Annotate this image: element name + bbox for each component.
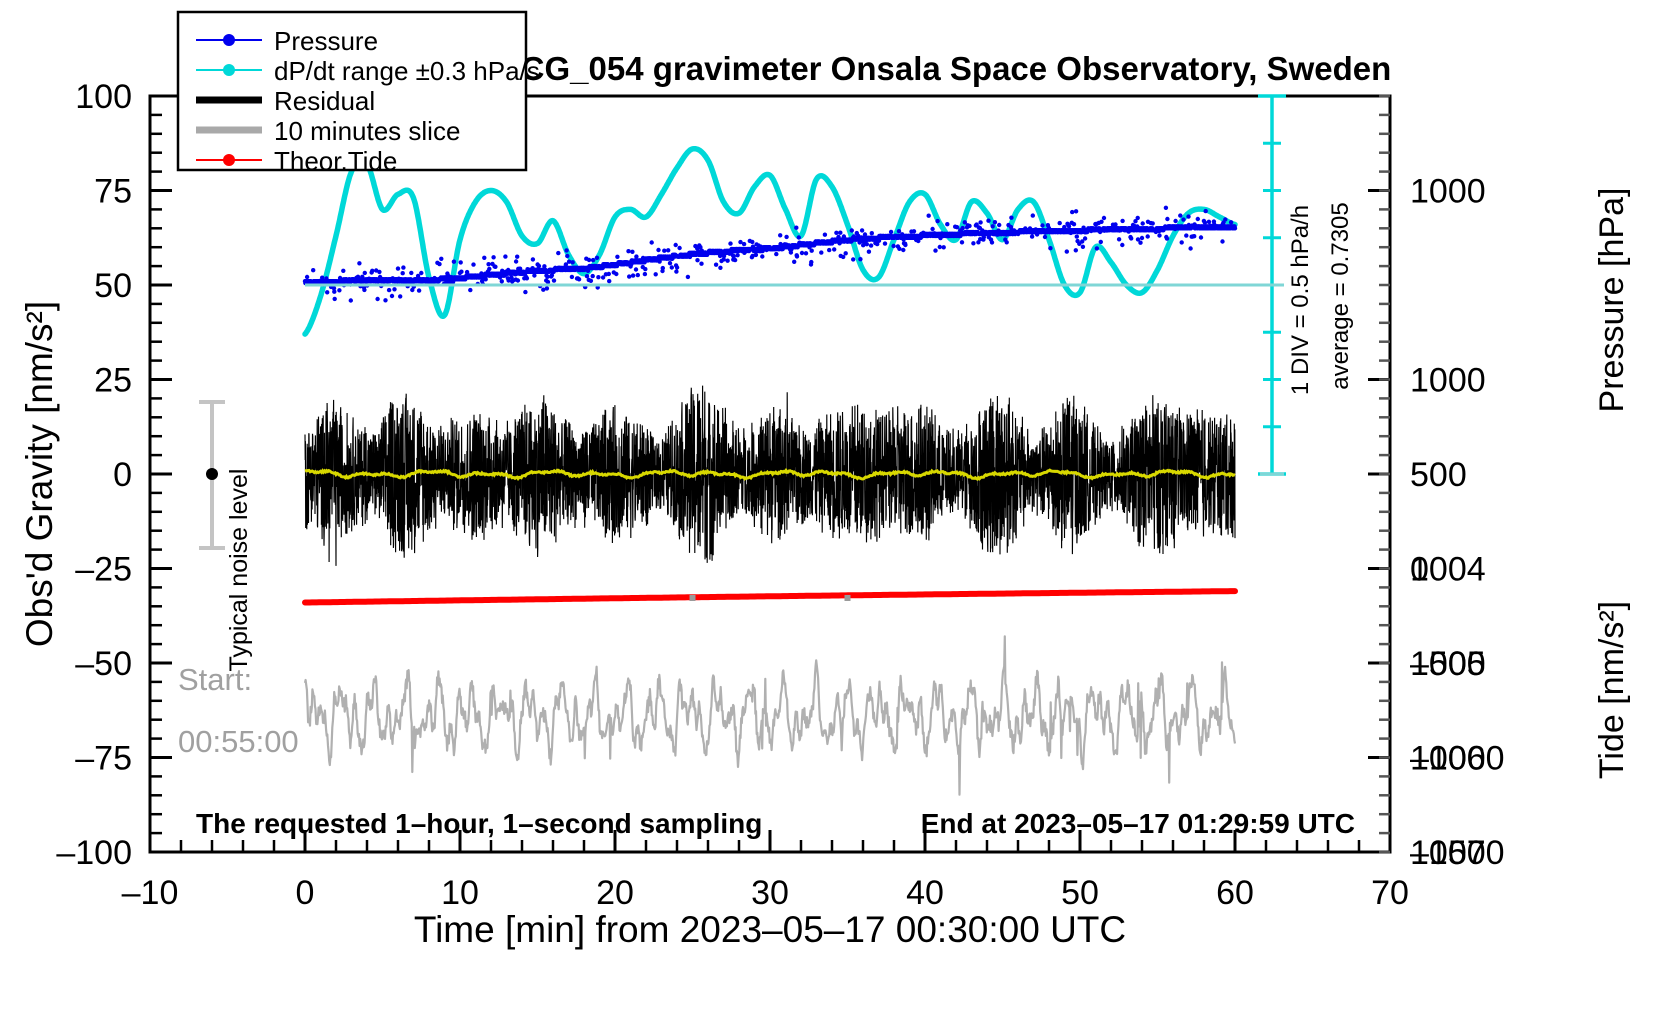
right-pressure-axis-title: Pressure [hPa] (1593, 188, 1631, 413)
noise-level-label: Typical noise level (225, 469, 253, 672)
left-tick-label: –50 (75, 645, 132, 683)
right-tide-tick-label: 500 (1410, 456, 1467, 494)
bottom-tick-label: 0 (296, 874, 315, 912)
legend: PressuredP/dt range ±0.3 hPa/sResidual10… (178, 12, 540, 176)
bottom-axis-title: Time [min] from 2023–05–17 00:30:00 UTC (414, 909, 1126, 950)
page-title: SCG_054 gravimeter Onsala Space Observat… (499, 50, 1392, 87)
legend-label: dP/dt range ±0.3 hPa/s (274, 56, 540, 86)
right-tide-tick-label: 1000 (1410, 362, 1486, 400)
bottom-tick-label: 50 (1061, 874, 1099, 912)
bottom-tick-label: 10 (441, 874, 479, 912)
div-note: 1 DIV = 0.5 hPa/h (1287, 205, 1314, 395)
average-note: average = 0.7305 (1327, 202, 1354, 390)
start-time: 00:55:00 (178, 724, 299, 759)
bottom-tick-label: 60 (1216, 874, 1254, 912)
left-tick-label: –25 (75, 551, 132, 589)
right-pressure-tick-label: 1000 (1410, 173, 1486, 211)
bottom-tick-label: 20 (596, 874, 634, 912)
left-axis-title: Obs'd Gravity [nm/s²] (19, 301, 60, 647)
legend-label: Residual (274, 86, 375, 116)
chart-canvas: 1007550250–25–50–75–100 –100102030405060… (0, 0, 1676, 1020)
left-tick-label: –75 (75, 740, 132, 778)
end-note: End at 2023–05–17 01:29:59 UTC (921, 808, 1355, 839)
left-tick-label: 50 (94, 267, 132, 305)
right-tide-tick-label: 0 (1410, 551, 1429, 589)
right-tide-axis-title: Tide [nm/s²] (1593, 601, 1631, 779)
sampling-note: The requested 1–hour, 1–second sampling (196, 808, 762, 839)
left-tick-label: 75 (94, 173, 132, 211)
legend-label: Pressure (274, 26, 378, 56)
start-label: Start: (178, 662, 252, 697)
bottom-tick-label: 30 (751, 874, 789, 912)
left-tick-label: 100 (75, 78, 132, 116)
bottom-tick-label: –10 (122, 874, 179, 912)
right-tide-tick-label: –1000 (1410, 740, 1505, 778)
right-tide-tick-label: –500 (1410, 645, 1486, 683)
legend-label: 10 minutes slice (274, 116, 460, 146)
right-tide-tick-label: –1500 (1410, 834, 1505, 872)
gravimeter-plot: 1007550250–25–50–75–100 –100102030405060… (0, 0, 1676, 1020)
left-tick-label: –100 (56, 834, 132, 872)
left-tick-label: 25 (94, 362, 132, 400)
bottom-tick-label: 40 (906, 874, 944, 912)
bottom-tick-label: 70 (1371, 874, 1409, 912)
left-tick-label: 0 (113, 456, 132, 494)
legend-label: Theor.Tide (274, 146, 397, 176)
